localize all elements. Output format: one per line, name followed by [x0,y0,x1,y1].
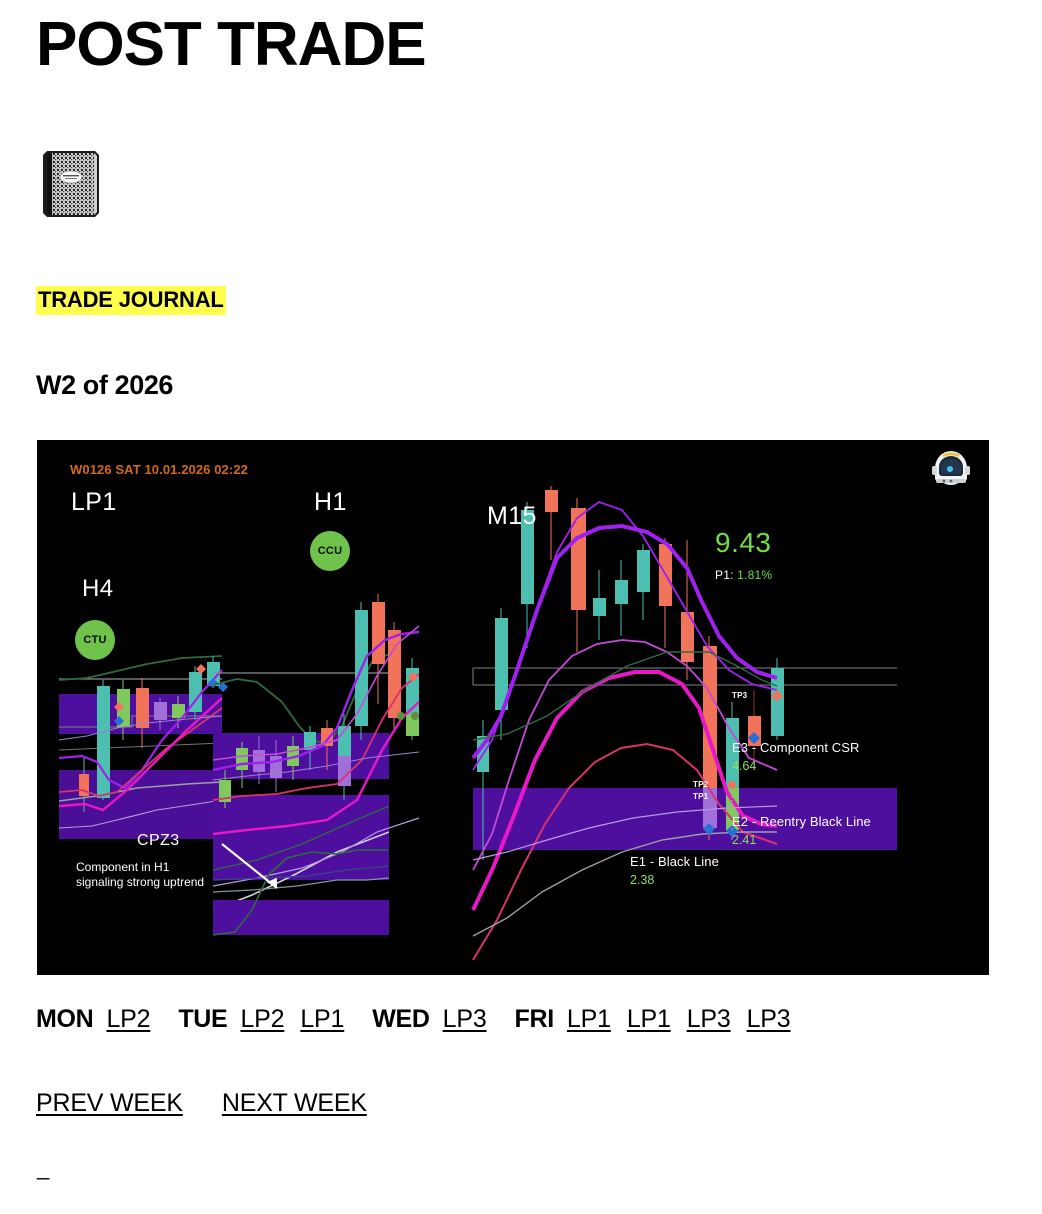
day-label-fri: FRI [515,1005,554,1034]
change-prefix: P1: [715,568,734,582]
day-group-wed: WED LP3 [372,1005,502,1034]
panel-tag-h1: H1 [314,488,347,517]
trade-link-fri-1[interactable]: LP1 [567,1005,611,1034]
panel-tag-m15: M15 [487,502,537,531]
level-e2-title: E2 - Reentry Black Line [732,814,871,829]
chart-timestamp: W0126 SAT 10.01.2026 02:22 [70,462,248,477]
level-e1-title: E1 - Black Line [630,854,719,869]
notebook-icon [37,141,105,223]
tp-marker-tp3: TP3 [732,691,747,700]
trade-link-wed-1[interactable]: LP3 [443,1005,487,1034]
footer-dash: _ [37,1157,49,1179]
day-label-tue: TUE [178,1005,227,1034]
week-navigation: PREV WEEK NEXT WEEK [36,1089,367,1118]
panel-tag-h4: H4 [82,575,113,603]
day-label-mon: MON [36,1005,93,1034]
day-strip: MON LP2 TUE LP2 LP1 WED LP3 FRI LP1 LP1 … [36,1005,806,1034]
astronaut-helmet-icon [930,448,972,492]
day-group-mon: MON LP2 [36,1005,166,1034]
prev-week-link[interactable]: PREV WEEK [36,1089,183,1118]
level-e1-value: 2.38 [630,873,719,887]
change-value: 1.81% [737,568,772,582]
annotation-tag-cpz3: CPZ3 [137,832,180,850]
post-trade-page: POST TRADE TRADE JOURNAL W2 of 2026 [0,0,1042,1214]
level-e3-value: 4.64 [732,759,860,773]
level-e1: E1 - Black Line 2.38 [630,854,719,887]
m15-last-price: 9.43 [715,527,772,559]
week-label: W2 of 2026 [36,370,173,401]
trade-link-fri-2[interactable]: LP1 [627,1005,671,1034]
trade-link-tue-1[interactable]: LP2 [240,1005,284,1034]
level-e2: E2 - Reentry Black Line 2.41 [732,814,871,847]
trade-link-fri-3[interactable]: LP3 [687,1005,731,1034]
level-e2-value: 2.41 [732,833,871,847]
trade-link-fri-4[interactable]: LP3 [747,1005,791,1034]
panel-tag-lp1: LP1 [71,488,117,517]
annotation-note: Component in H1 signaling strong uptrend [76,860,216,891]
trade-link-mon-1[interactable]: LP2 [106,1005,150,1034]
trade-link-tue-2[interactable]: LP1 [300,1005,344,1034]
day-group-tue: TUE LP2 LP1 [178,1005,360,1034]
day-label-wed: WED [372,1005,429,1034]
signal-bubble-ccu[interactable]: CCU [310,531,350,571]
day-group-fri: FRI LP1 LP1 LP3 LP3 [515,1005,807,1034]
journal-label: TRADE JOURNAL [36,286,226,315]
level-e3-title: E3 - Component CSR [732,740,860,755]
next-week-link[interactable]: NEXT WEEK [222,1089,367,1118]
level-e3: E3 - Component CSR 4.64 [732,740,860,773]
m15-change: P1: 1.81% [715,568,772,582]
trade-chart-board[interactable]: W0126 SAT 10.01.2026 02:22 LP1 H4 H1 M15… [37,440,989,975]
tp-marker-tp2: TP2 [693,780,708,789]
tp-marker-tp1: TP1 [693,792,708,801]
page-title: POST TRADE [36,14,426,76]
signal-bubble-ctu[interactable]: CTU [75,620,115,660]
